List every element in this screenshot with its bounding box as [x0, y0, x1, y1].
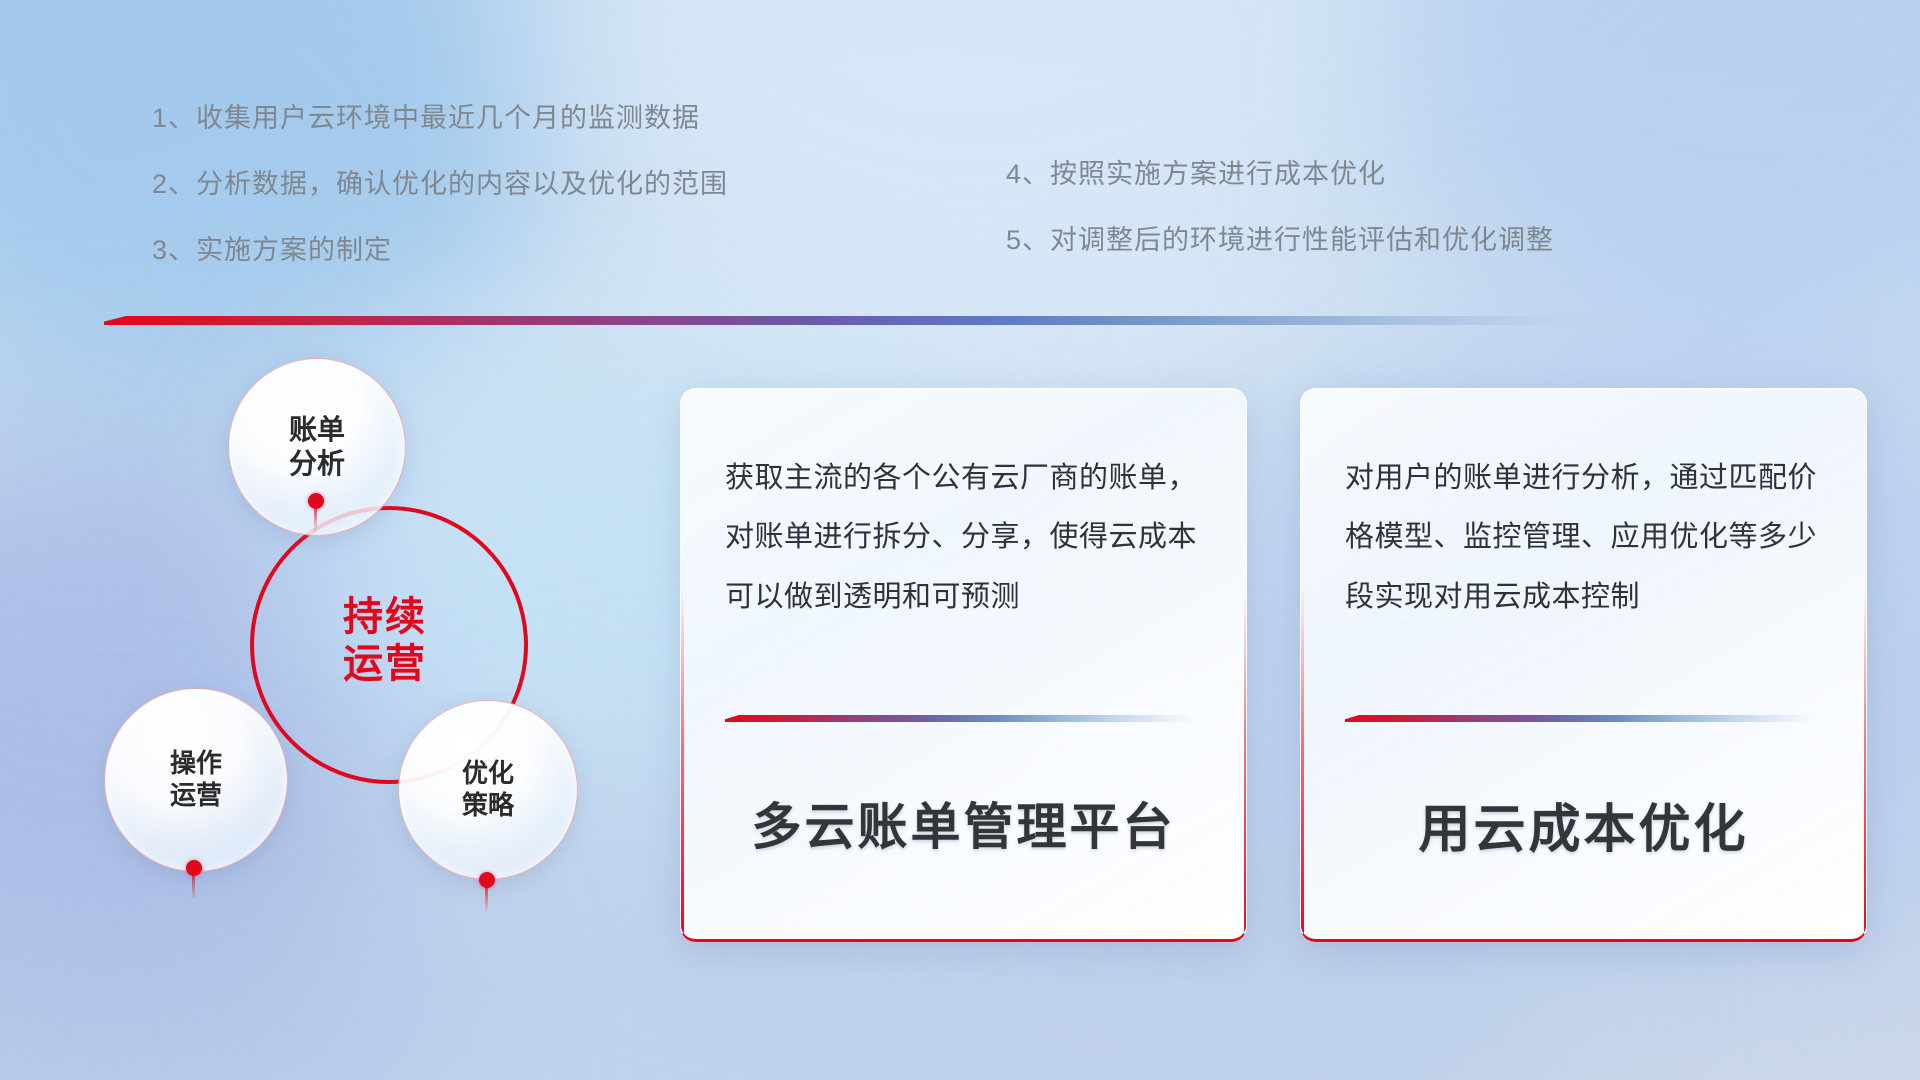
process-step-5: 5、对调整后的环境进行性能评估和优化调整 — [1006, 218, 1554, 257]
card-cloud-cost-optimization[interactable]: 对用户的账单进行分析，通过匹配价格模型、监控管理、应用优化等多少段实现对用云成本… — [1300, 388, 1867, 942]
bubble-bill-analysis[interactable]: 账单 分析 — [228, 358, 406, 536]
card-1-divider — [725, 715, 1193, 722]
bubble-operation-line-1: 操作 — [170, 748, 222, 780]
bubble-operation[interactable]: 操作 运营 — [104, 688, 288, 872]
cycle-center-line-2: 运营 — [343, 641, 427, 688]
card-2-body: 对用户的账单进行分析，通过匹配价格模型、监控管理、应用优化等多少段实现对用云成本… — [1345, 449, 1830, 627]
section-divider — [104, 316, 1716, 325]
card-2-title: 用云成本优化 — [1301, 787, 1866, 862]
process-step-2: 2、分析数据，确认优化的内容以及优化的范围 — [152, 162, 728, 201]
node-tail-top — [314, 507, 317, 533]
bubble-operation-line-2: 运营 — [170, 780, 222, 812]
bubble-optimization-strategy-line-2: 策略 — [462, 790, 514, 822]
process-step-4: 4、按照实施方案进行成本优化 — [1006, 152, 1554, 191]
card-2-divider — [1345, 715, 1813, 722]
card-1-title: 多云账单管理平台 — [681, 787, 1246, 859]
bubble-bill-analysis-line-2: 分析 — [289, 447, 345, 481]
bubble-bill-analysis-line-1: 账单 — [289, 413, 345, 447]
bubble-optimization-strategy[interactable]: 优化 策略 — [398, 700, 578, 880]
process-step-1: 1、收集用户云环境中最近几个月的监测数据 — [152, 96, 728, 135]
node-tail-right — [485, 886, 488, 912]
node-dot-left — [186, 860, 202, 876]
process-steps-right: 4、按照实施方案进行成本优化 5、对调整后的环境进行性能评估和优化调整 — [1006, 152, 1554, 284]
continuous-operation-diagram: 持续 运营 账单 分析 操作 运营 优化 策略 — [96, 352, 656, 952]
process-step-3: 3、实施方案的制定 — [152, 228, 728, 267]
node-tail-left — [192, 874, 195, 900]
cycle-center-line-1: 持续 — [343, 594, 427, 641]
node-dot-right — [479, 872, 495, 888]
bubble-optimization-strategy-line-1: 优化 — [462, 758, 514, 790]
node-dot-top — [308, 493, 324, 509]
process-steps-left: 1、收集用户云环境中最近几个月的监测数据 2、分析数据，确认优化的内容以及优化的… — [152, 96, 728, 294]
card-multicloud-billing-platform[interactable]: 获取主流的各个公有云厂商的账单，对账单进行拆分、分享，使得云成本可以做到透明和可… — [680, 388, 1247, 942]
card-1-body: 获取主流的各个公有云厂商的账单，对账单进行拆分、分享，使得云成本可以做到透明和可… — [725, 449, 1210, 627]
